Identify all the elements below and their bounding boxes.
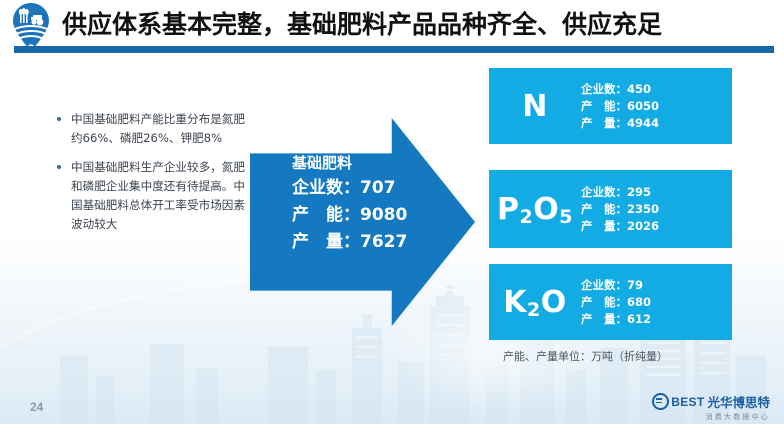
symbol-tail: O <box>533 192 559 227</box>
list-item: 中国基础肥料产能比重分布是氮肥约66%、磷肥26%、钾肥8% <box>55 110 245 148</box>
brand-circle-icon <box>652 393 669 410</box>
card-stats-n: 企业数：450 产 能：6050 产 量：4944 <box>581 81 659 132</box>
arrow-title: 基础肥料 <box>292 152 482 175</box>
symbol-tail: O <box>541 285 567 320</box>
card-symbol-k2o: K2O <box>489 285 581 320</box>
symbol-main: N <box>522 89 548 124</box>
bullet-list: 中国基础肥料产能比重分布是氮肥约66%、磷肥26%、钾肥8% 中国基础肥料生产企… <box>55 110 245 244</box>
brand-mark-text: BEST <box>671 395 704 409</box>
brand-name-cn: 光华博思特 <box>707 392 770 411</box>
page-title: 供应体系基本完整，基础肥料产品品种齐全、供应充足 <box>62 5 662 41</box>
card-stats-k2o: 企业数：79 产 能：680 产 量：612 <box>581 277 651 328</box>
list-item: 中国基础肥料生产企业较多，氮肥和磷肥企业集中度还有待提高。中国基础肥料总体开工率… <box>55 158 245 234</box>
arrow-stat-enterprises: 企业数：707 <box>292 175 482 202</box>
unit-footnote: 产能、产量单位：万吨（折纯量） <box>503 348 668 364</box>
slide-header: 供应体系基本完整，基础肥料产品品种齐全、供应充足 <box>0 0 784 52</box>
brand-logo: BEST 光华博思特 消费大数据中心 <box>652 392 770 422</box>
card-stats-p2o5: 企业数：295 产 能：2350 产 量：2026 <box>581 184 659 235</box>
brand-mark-best: BEST <box>652 393 704 410</box>
card-symbol-p2o5: P2O5 <box>489 192 581 227</box>
symbol-sub-2: 5 <box>559 206 573 228</box>
arrow-stat-output: 产 量：7627 <box>292 229 482 256</box>
summary-arrow-text: 基础肥料 企业数：707 产 能：9080 产 量：7627 <box>292 152 482 256</box>
symbol-main: P <box>497 192 520 227</box>
nutrient-card-p2o5[interactable]: P2O5 企业数：295 产 能：2350 产 量：2026 <box>489 170 732 248</box>
symbol-main: K <box>503 285 527 320</box>
symbol-sub-1: 2 <box>520 206 534 228</box>
card-symbol-n: N <box>489 89 581 124</box>
symbol-sub-1: 2 <box>527 299 541 321</box>
nutrient-card-n[interactable]: N 企业数：450 产 能：6050 产 量：4944 <box>489 68 732 144</box>
arrow-stat-capacity: 产 能：9080 <box>292 202 482 229</box>
brand-subtitle: 消费大数据中心 <box>652 412 770 422</box>
brand-row: BEST 光华博思特 <box>652 392 770 411</box>
nutrient-card-k2o[interactable]: K2O 企业数：79 产 能：680 产 量：612 <box>489 264 732 340</box>
title-divider <box>14 46 774 53</box>
page-number: 24 <box>30 400 43 414</box>
slide-canvas: 供应体系基本完整，基础肥料产品品种齐全、供应充足 中国基础肥料产能比重分布是氮肥… <box>0 0 784 424</box>
